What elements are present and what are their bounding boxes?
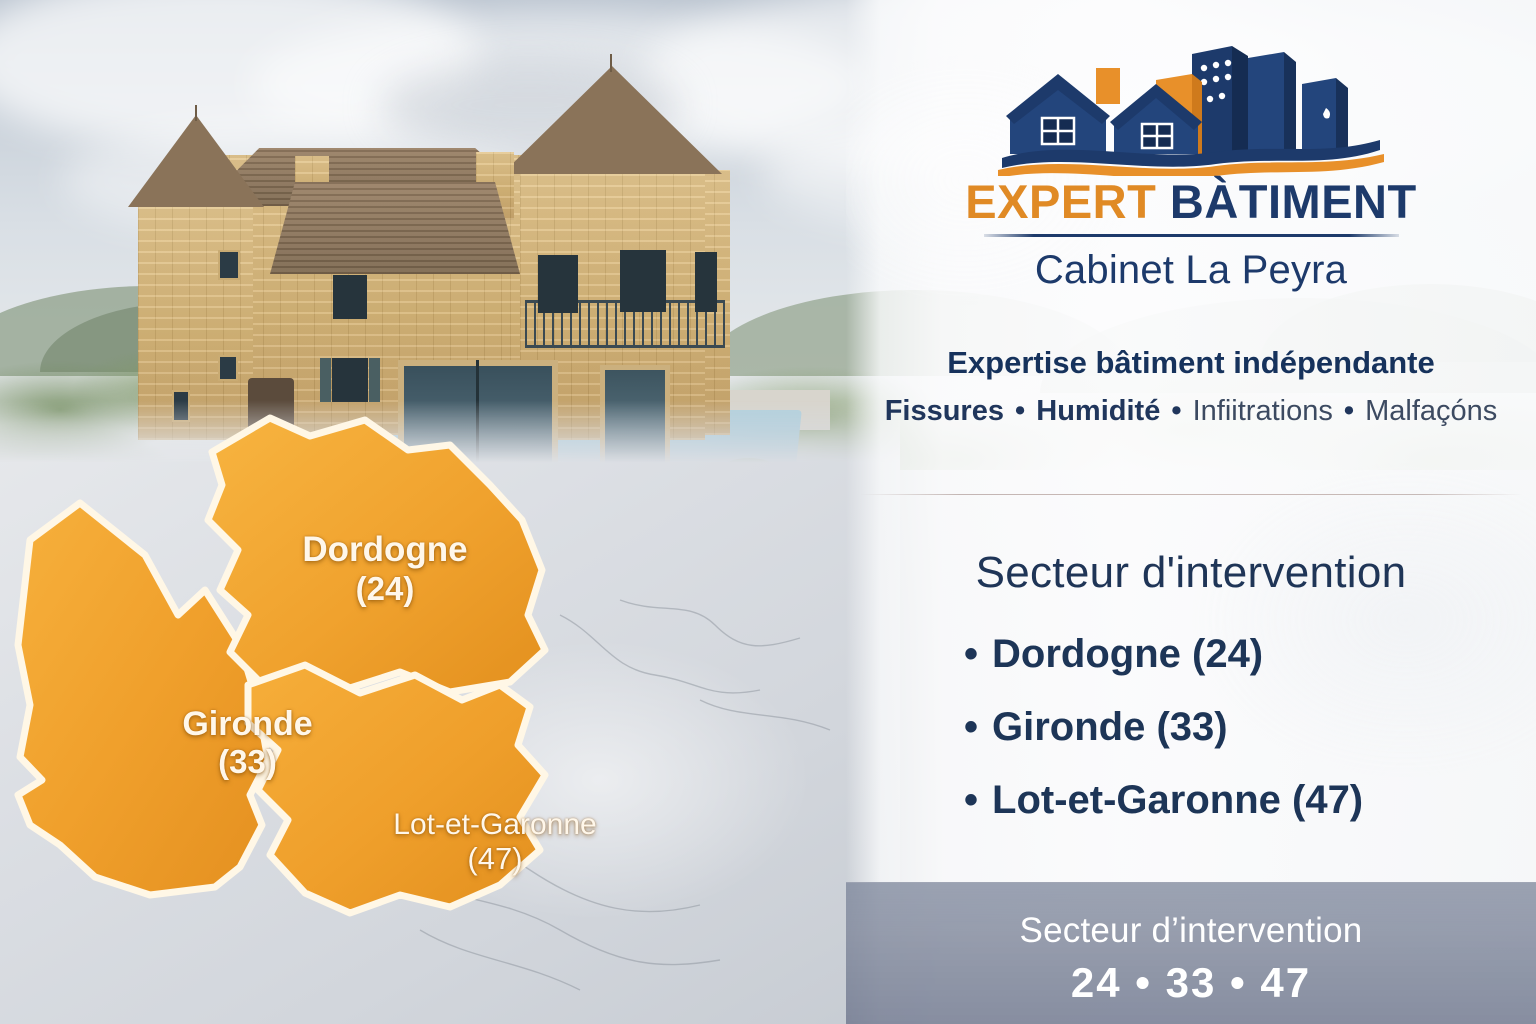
service-separator: •: [1168, 395, 1184, 427]
region-map: Dordogne (24) Gironde (33) Lot-et-Garonn…: [0, 400, 900, 1024]
service-separator: •: [1341, 395, 1357, 427]
sector-block: Secteur d'intervention •Dordogne (24) •G…: [846, 548, 1536, 851]
panel-divider: [860, 494, 1522, 495]
service-item-humidite: Humidité: [1036, 395, 1160, 427]
sector-list: •Dordogne (24) •Gironde (33) •Lot-et-Gar…: [846, 632, 1536, 823]
brand-name: EXPERT BÀTIMENT: [846, 178, 1536, 225]
sector-title: Secteur d'intervention: [846, 548, 1536, 598]
bullet-icon: •: [964, 778, 978, 823]
sector-item-gironde: •Gironde (33): [846, 705, 1536, 750]
bullet-icon: •: [964, 632, 978, 677]
sector-item-label: Dordogne (24): [992, 632, 1263, 676]
footer-bar: Secteur d’intervention 24 • 33 • 47: [846, 882, 1536, 1024]
sector-item-dordogne: •Dordogne (24): [846, 632, 1536, 677]
logo-divider: [984, 234, 1399, 237]
footer-title: Secteur d’intervention: [846, 911, 1536, 951]
sector-item-label: Lot-et-Garonne (47): [992, 778, 1363, 822]
service-item-infiltrations: Infiitrations: [1193, 395, 1333, 427]
service-separator: •: [1012, 395, 1028, 427]
brand-logo: EXPERT BÀTIMENT Cabinet La Peyra: [846, 36, 1536, 293]
sector-item-lot-et-garonne: •Lot-et-Garonne (47): [846, 778, 1536, 823]
bullet-icon: •: [964, 705, 978, 750]
brand-name-part1: EXPERT: [965, 175, 1156, 228]
tagline-block: Expertise bâtiment indépendante Fissures…: [846, 345, 1536, 428]
sector-item-label: Gironde (33): [992, 705, 1228, 749]
info-panel: EXPERT BÀTIMENT Cabinet La Peyra Experti…: [846, 0, 1536, 1024]
promotional-banner: Dordogne (24) Gironde (33) Lot-et-Garonn…: [0, 0, 1536, 1024]
service-item-malfacons: Malfaçóns: [1365, 395, 1497, 427]
tagline-primary: Expertise bâtiment indépendante: [846, 345, 1536, 381]
footer-department-codes: 24 • 33 • 47: [846, 959, 1536, 1007]
service-item-fissures: Fissures: [885, 395, 1004, 427]
houses-and-buildings-logo-icon: [996, 36, 1386, 176]
brand-name-part2: BÀTIMENT: [1170, 175, 1417, 228]
service-list: Fissures • Humidité • Infiitrations • Ma…: [846, 395, 1536, 428]
brand-subtitle: Cabinet La Peyra: [846, 248, 1536, 293]
